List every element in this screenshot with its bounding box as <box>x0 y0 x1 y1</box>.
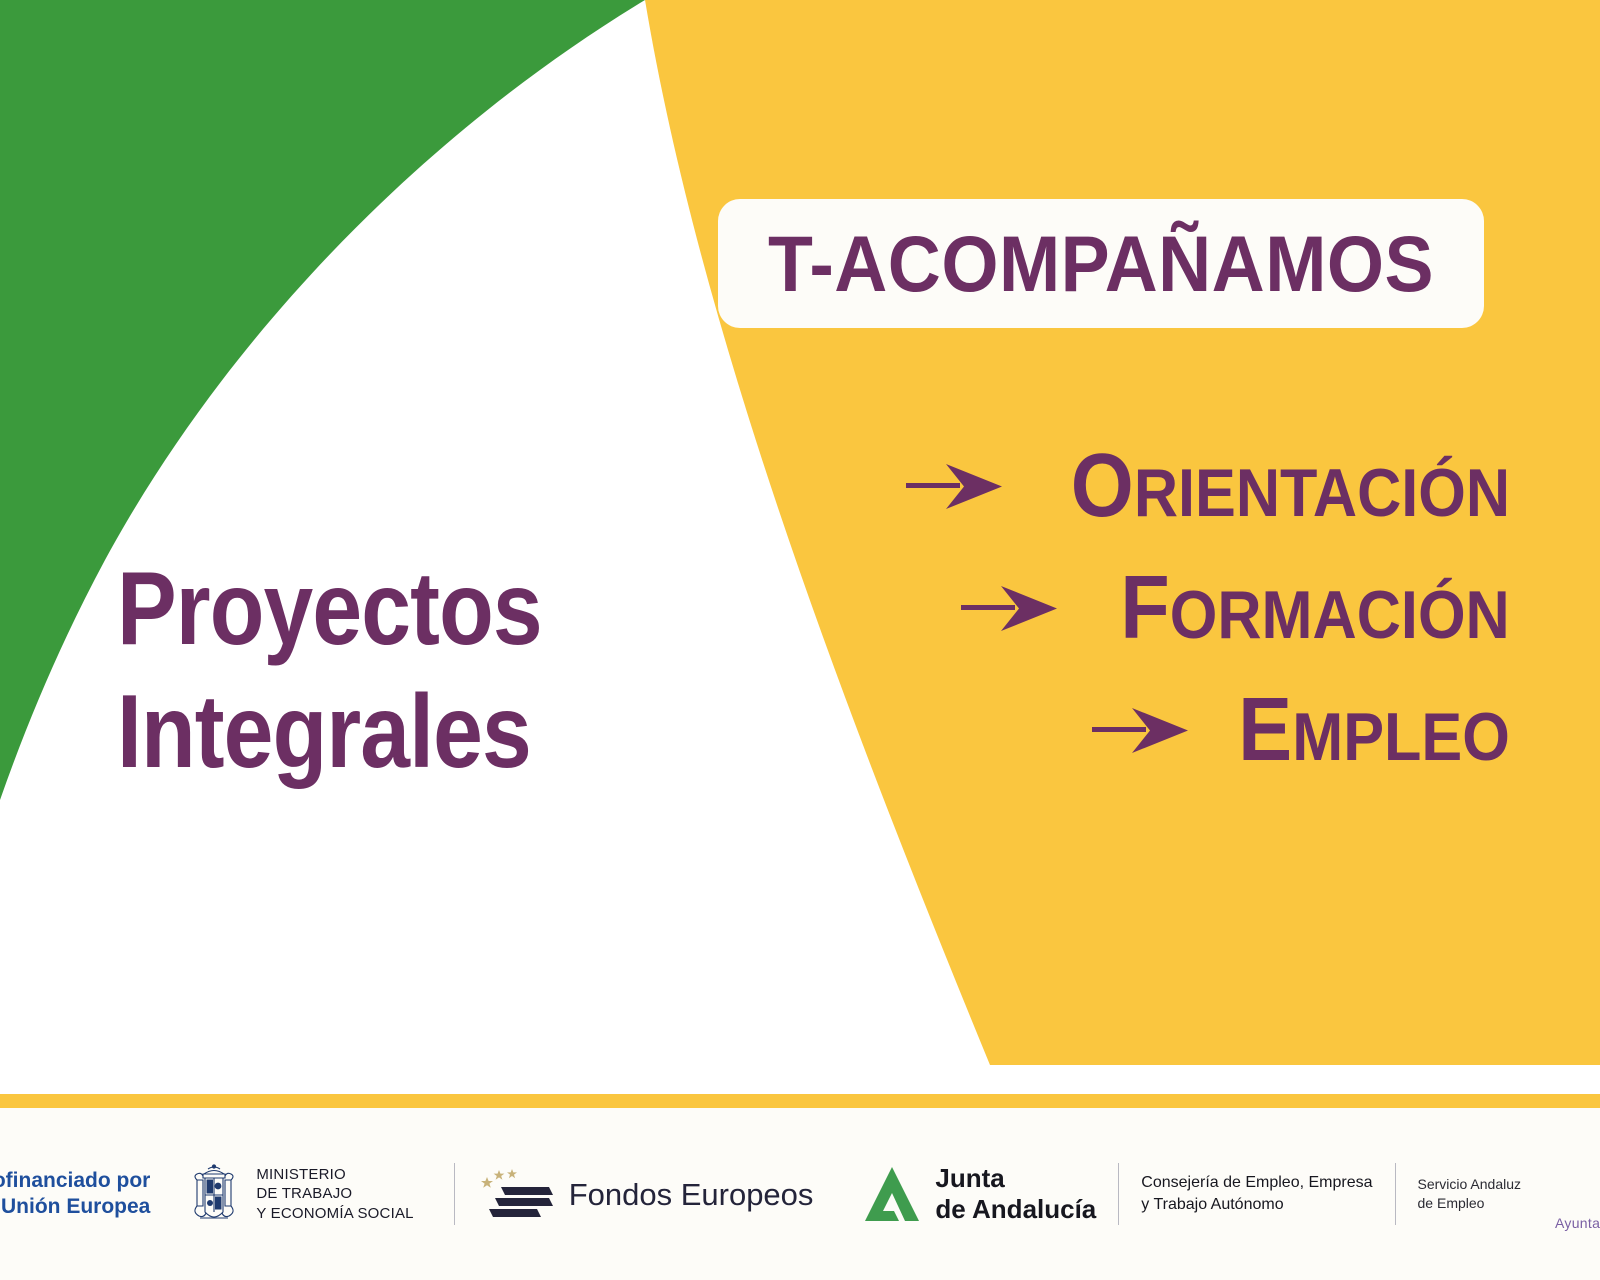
consejeria-label: Consejería de Empleo, Empresa y Trabajo … <box>1141 1172 1372 1215</box>
service-cap: E <box>1238 680 1292 780</box>
service-rest: MPLEO <box>1292 699 1510 775</box>
logo-fondos-europeos: Fondos Europeos <box>477 1159 814 1229</box>
arrow-right-icon <box>1092 702 1188 758</box>
divider-rule <box>454 1163 455 1225</box>
sae-label: Servicio Andaluz de Empleo <box>1418 1175 1522 1213</box>
eu-label-line-1: Cofinanciado por <box>0 1168 150 1194</box>
arrow-right-icon <box>961 580 1057 636</box>
ministerio-label: MINISTERIO DE TRABAJO Y ECONOMÍA SOCIAL <box>256 1165 413 1223</box>
arrow-right-icon <box>906 458 1002 514</box>
spain-coat-of-arms-icon <box>184 1160 244 1228</box>
yellow-divider <box>0 1094 1600 1108</box>
service-label-orientacion: ORIENTACIÓN <box>1071 441 1510 531</box>
poster-root: T-ACOMPAÑAMOS Proyectos Integrales ORIEN… <box>0 0 1600 1280</box>
ministerio-label-line-3: Y ECONOMÍA SOCIAL <box>256 1204 413 1223</box>
consejeria-label-line-2: y Trabajo Autónomo <box>1141 1194 1372 1216</box>
sae-block: Servicio Andaluz de Empleo <box>1418 1159 1522 1229</box>
eu-label: Cofinanciado por la Unión Europea <box>0 1168 150 1219</box>
title-pill: T-ACOMPAÑAMOS <box>718 199 1484 328</box>
junta-andalucia-icon <box>861 1163 923 1225</box>
sae-label-line-1: Servicio Andaluz <box>1418 1175 1522 1194</box>
service-item-formacion: FORMACIÓN <box>830 547 1510 669</box>
service-list: ORIENTACIÓN FORMACIÓN EMPLEO <box>830 425 1510 791</box>
junta-label-line-2: de Andalucía <box>935 1194 1096 1225</box>
headline-line-2: Integrales <box>117 671 650 794</box>
divider-rule <box>1395 1163 1396 1225</box>
umbrete-town-icon <box>1588 1157 1600 1211</box>
page-title: T-ACOMPAÑAMOS <box>768 224 1434 303</box>
logo-european-union: Cofinanciado por la Unión Europea <box>0 1159 150 1229</box>
divider-rule <box>1118 1163 1119 1225</box>
consejeria-label-line-1: Consejería de Empleo, Empresa <box>1141 1172 1372 1194</box>
service-rest: ORMACIÓN <box>1170 577 1510 653</box>
service-rest: RIENTACIÓN <box>1134 455 1510 531</box>
logo-junta-andalucia: Junta de Andalucía <box>861 1159 1096 1229</box>
junta-label-line-1: Junta <box>935 1163 1096 1194</box>
junta-label: Junta de Andalucía <box>935 1163 1096 1224</box>
umbrete-label: Ayuntamiento de Umbrete <box>1555 1215 1600 1231</box>
fondos-europeos-label: Fondos Europeos <box>569 1179 814 1210</box>
service-cap: F <box>1121 558 1170 658</box>
footer-logo-bar: Cofinanciado por la Unión Europea <box>0 1108 1600 1280</box>
service-label-empleo: EMPLEO <box>1238 685 1510 775</box>
logo-ayuntamiento-umbrete: Ayuntamiento de Umbrete <box>1555 1153 1600 1235</box>
service-item-empleo: EMPLEO <box>830 669 1510 791</box>
service-item-orientacion: ORIENTACIÓN <box>830 425 1510 547</box>
ministerio-label-line-2: DE TRABAJO <box>256 1184 413 1203</box>
headline: Proyectos Integrales <box>117 548 737 793</box>
logo-ministerio-trabajo: MINISTERIO DE TRABAJO Y ECONOMÍA SOCIAL <box>184 1159 413 1229</box>
headline-line-1: Proyectos <box>117 548 650 671</box>
ministerio-label-line-1: MINISTERIO <box>256 1165 413 1184</box>
sae-label-line-2: de Empleo <box>1418 1194 1522 1213</box>
service-cap: O <box>1071 436 1134 536</box>
eu-label-line-2: la Unión Europea <box>0 1194 150 1220</box>
consejeria-block: Consejería de Empleo, Empresa y Trabajo … <box>1141 1159 1372 1229</box>
fondos-europeos-icon <box>477 1163 557 1225</box>
service-label-formacion: FORMACIÓN <box>1121 563 1510 653</box>
